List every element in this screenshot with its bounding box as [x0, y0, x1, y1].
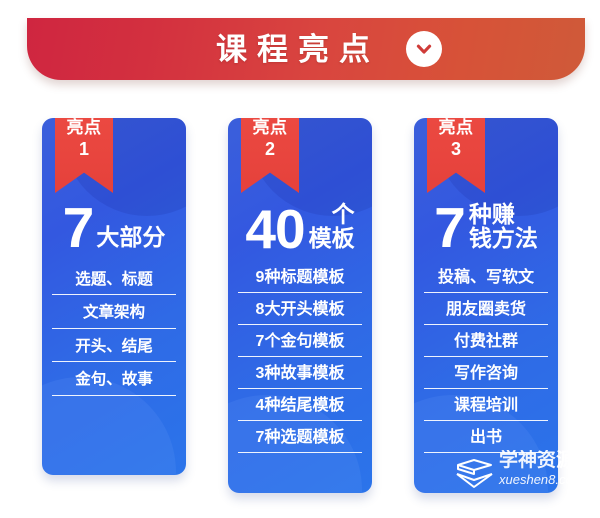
list-item: 4种结尾模板 — [238, 393, 362, 421]
list-item: 8大开头模板 — [238, 297, 362, 325]
list-item: 金句、故事 — [52, 367, 176, 395]
card-headline-1: 7 大部分 — [42, 197, 186, 253]
list-item: 投稿、写软文 — [424, 265, 548, 293]
highlight-card-1[interactable]: 亮点 1 7 大部分 选题、标题 文章架构 开头、结尾 金句、故事 — [42, 118, 186, 475]
ribbon-label: 亮点 — [427, 119, 485, 137]
headline-suffix-line: 个 — [332, 203, 355, 227]
list-item: 文章架构 — [52, 300, 176, 328]
highlight-card-3[interactable]: 亮点 3 7 种赚 钱方法 投稿、写软文 朋友圈卖货 付费社群 写作咨询 课程培… — [414, 118, 558, 493]
list-item: 7个金句模板 — [238, 329, 362, 357]
highlight-cards: 亮点 1 7 大部分 选题、标题 文章架构 开头、结尾 金句、故事 亮点 2 4… — [0, 118, 600, 518]
ribbon-label: 亮点 — [55, 119, 113, 137]
headline-suffix-stack: 个 模板 — [309, 203, 355, 253]
headline-number: 7 — [434, 203, 465, 253]
headline-suffix-line: 钱方法 — [469, 227, 538, 251]
list-item: 出书 — [424, 425, 548, 453]
list-item: 9种标题模板 — [238, 265, 362, 293]
list-item: 选题、标题 — [52, 267, 176, 295]
ribbon-label: 亮点 — [241, 119, 299, 137]
list-item: 课程培训 — [424, 393, 548, 421]
list-item: 3种故事模板 — [238, 361, 362, 389]
headline-suffix-stack: 种赚 钱方法 — [469, 203, 538, 253]
headline-suffix: 大部分 — [96, 226, 165, 253]
ribbon-number: 3 — [427, 140, 485, 160]
card-list-3: 投稿、写软文 朋友圈卖货 付费社群 写作咨询 课程培训 出书 — [414, 265, 558, 453]
card-list-1: 选题、标题 文章架构 开头、结尾 金句、故事 — [42, 267, 186, 396]
page-title: 课程亮点 — [206, 34, 380, 65]
headline-suffix-line: 模板 — [309, 227, 355, 251]
list-item: 写作咨询 — [424, 361, 548, 389]
chevron-down-badge[interactable] — [406, 31, 442, 67]
page-header: 课程亮点 — [27, 18, 585, 80]
chevron-down-icon — [414, 39, 434, 59]
highlight-card-2[interactable]: 亮点 2 40 个 模板 9种标题模板 8大开头模板 7个金句模板 3种故事模板… — [228, 118, 372, 493]
card-list-2: 9种标题模板 8大开头模板 7个金句模板 3种故事模板 4种结尾模板 7种选题模… — [228, 265, 372, 453]
headline-number: 7 — [63, 203, 94, 253]
card-headline-3: 7 种赚 钱方法 — [414, 197, 558, 253]
list-item: 7种选题模板 — [238, 425, 362, 453]
header-banner: 课程亮点 — [27, 18, 585, 80]
ribbon-number: 2 — [241, 140, 299, 160]
headline-number: 40 — [245, 205, 304, 253]
card-headline-2: 40 个 模板 — [228, 197, 372, 253]
ribbon-number: 1 — [55, 140, 113, 160]
list-item: 付费社群 — [424, 329, 548, 357]
list-item: 朋友圈卖货 — [424, 297, 548, 325]
list-item: 开头、结尾 — [52, 334, 176, 362]
headline-suffix-line: 种赚 — [469, 203, 515, 227]
